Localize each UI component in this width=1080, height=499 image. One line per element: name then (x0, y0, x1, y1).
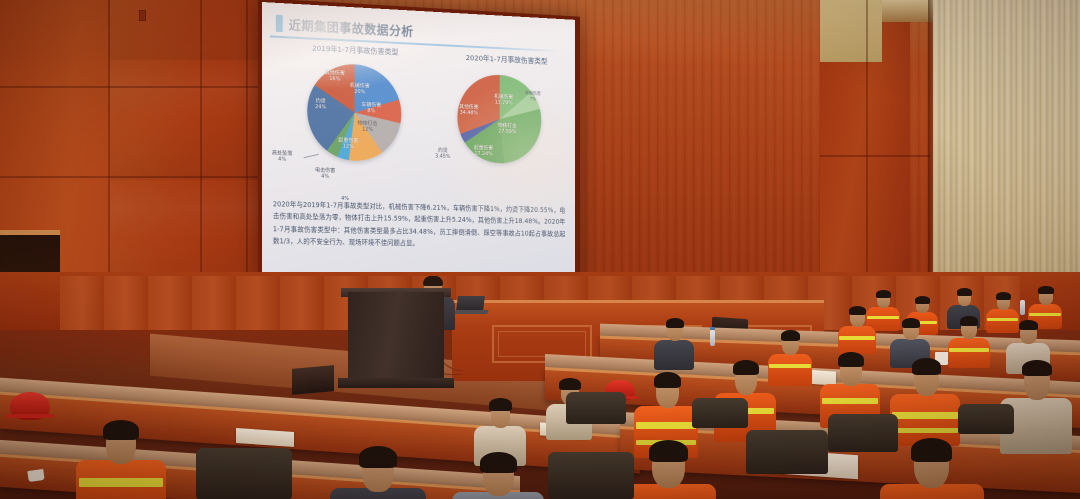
hair (1022, 360, 1052, 376)
hair (649, 440, 688, 462)
panel-seam (200, 0, 202, 300)
audience-member (330, 446, 426, 499)
hair (1019, 320, 1038, 330)
dark-jacket (654, 340, 694, 370)
lectern (348, 292, 444, 388)
curtain-shading (933, 0, 1080, 300)
hair (960, 316, 978, 326)
helmet-brim (6, 414, 54, 418)
hair (838, 352, 864, 367)
body-paragraph: 2020年与2019年1-7月事故类型对比，机械伤害下降6.21%，车辆伤害下降… (273, 200, 566, 247)
hair (957, 288, 972, 296)
slice-label-wuti-2020: 物体打击27.59% (498, 123, 517, 136)
reflective-stripe (892, 428, 958, 433)
slide-title: 近期集团事故数据分析 (289, 14, 414, 39)
chair-back (548, 452, 634, 499)
reflective-stripe (636, 422, 696, 429)
chair-back (692, 398, 748, 428)
slice-label-qizhong-2019: 起重伤害12% (338, 138, 358, 151)
hi-vis-jacket (838, 326, 876, 354)
pie-2020 (457, 73, 541, 164)
floor-monitor-speaker (292, 365, 334, 395)
chart-2020: 2020年1-7月事故伤害类型 机械伤害13.79% 车辆伤害7% 物体打击27… (437, 49, 575, 198)
audience-member (76, 420, 166, 499)
hair (1038, 286, 1054, 294)
hair (902, 318, 920, 328)
projection-screen: 近期集团事故数据分析 2019年1-7月事故伤害类型 机械伤害20% 车辆伤害8… (262, 2, 575, 277)
hair (489, 398, 512, 411)
laptop-screen (456, 296, 485, 311)
hair (911, 438, 952, 462)
audience-member (838, 306, 876, 352)
slice-label-zhuotang-2019: 灼烫24% (315, 98, 326, 111)
audience-member (620, 440, 716, 499)
title-accent-bar (276, 15, 283, 32)
slice-label-cheliang-2019: 车辆伤害8% (361, 102, 381, 115)
hair (915, 296, 930, 304)
panel-seam (0, 86, 270, 88)
chair-back (828, 414, 898, 452)
chair-back (958, 404, 1014, 434)
hair (876, 290, 891, 298)
bottle-cap (710, 327, 715, 330)
slice-label-jixie-2020: 机械伤害13.79% (494, 94, 513, 107)
body-superscript: 4% (341, 193, 349, 205)
reflective-stripe (949, 348, 989, 352)
slice-label-qita-2019: 其他伤害16% (325, 70, 345, 84)
ceiling-trim (820, 0, 882, 62)
slice-label-gaochu-2019: 高处坠落4% (272, 150, 292, 163)
panel-seam (0, 176, 270, 178)
panel-seam (246, 0, 248, 300)
hair (912, 358, 941, 375)
slice-label-wuti-2019: 物体打击12% (358, 121, 378, 134)
audience-member (890, 358, 960, 444)
presenter-hair (423, 276, 443, 286)
chart-2020-title: 2020年1-7月事故伤害类型 (437, 51, 575, 68)
water-bottle (1020, 300, 1025, 315)
hair (654, 372, 681, 388)
hair (996, 292, 1011, 300)
audience-member (452, 452, 544, 499)
hair (733, 360, 759, 375)
chart-2019: 2019年1-7月事故伤害类型 机械伤害20% 车辆伤害8% 物体打击12% 起… (274, 41, 435, 195)
presentation-slide: 近期集团事故数据分析 2019年1-7月事故伤害类型 机械伤害20% 车辆伤害8… (262, 2, 575, 277)
laptop (455, 296, 487, 316)
audience-member (654, 318, 694, 368)
chair-back (746, 430, 828, 474)
slide-body-text: 4% 2020年与2019年1-7月事故类型对比，机械伤害下降6.21%，车辆伤… (273, 198, 566, 252)
reflective-stripe (892, 412, 958, 419)
panel-seam (820, 155, 930, 157)
slice-label-qita-2020: 其他伤害34.48% (459, 104, 478, 117)
hair (666, 318, 684, 328)
reflective-stripe (822, 398, 878, 404)
conference-room-photo: 近期集团事故数据分析 2019年1-7月事故伤害类型 机械伤害20% 车辆伤害8… (0, 0, 1080, 499)
chair-back (196, 448, 292, 499)
leader-line (303, 154, 318, 158)
hair (849, 306, 866, 315)
lectern-base (338, 378, 454, 388)
water-bottle (710, 330, 715, 346)
hair (781, 330, 800, 341)
chair-back (566, 392, 626, 424)
hair (103, 420, 139, 440)
slice-label-qizhong-2020: 起重伤害17.24% (474, 145, 493, 158)
laptop-keyboard (454, 310, 489, 314)
hair (559, 378, 581, 390)
slice-label-zhuotang-2020: 灼烫3.45% (435, 148, 450, 161)
reflective-stripe (839, 336, 875, 340)
reflective-stripe (1029, 313, 1061, 316)
wall-marker-icon (139, 10, 146, 21)
slice-label-jixie-2019: 机械伤害20% (350, 83, 370, 96)
paper-cup (27, 469, 44, 482)
hair (359, 446, 397, 468)
slice-label-cheliang-2020: 车辆伤害7% (525, 91, 541, 104)
reflective-stripe (79, 478, 163, 487)
panel-seam (866, 0, 868, 300)
hair (480, 452, 517, 473)
charts-area: 2019年1-7月事故伤害类型 机械伤害20% 车辆伤害8% 物体打击12% 起… (262, 40, 575, 198)
slice-label-dianji-2019: 电击伤害4% (315, 168, 335, 181)
panel-seam (108, 0, 110, 300)
